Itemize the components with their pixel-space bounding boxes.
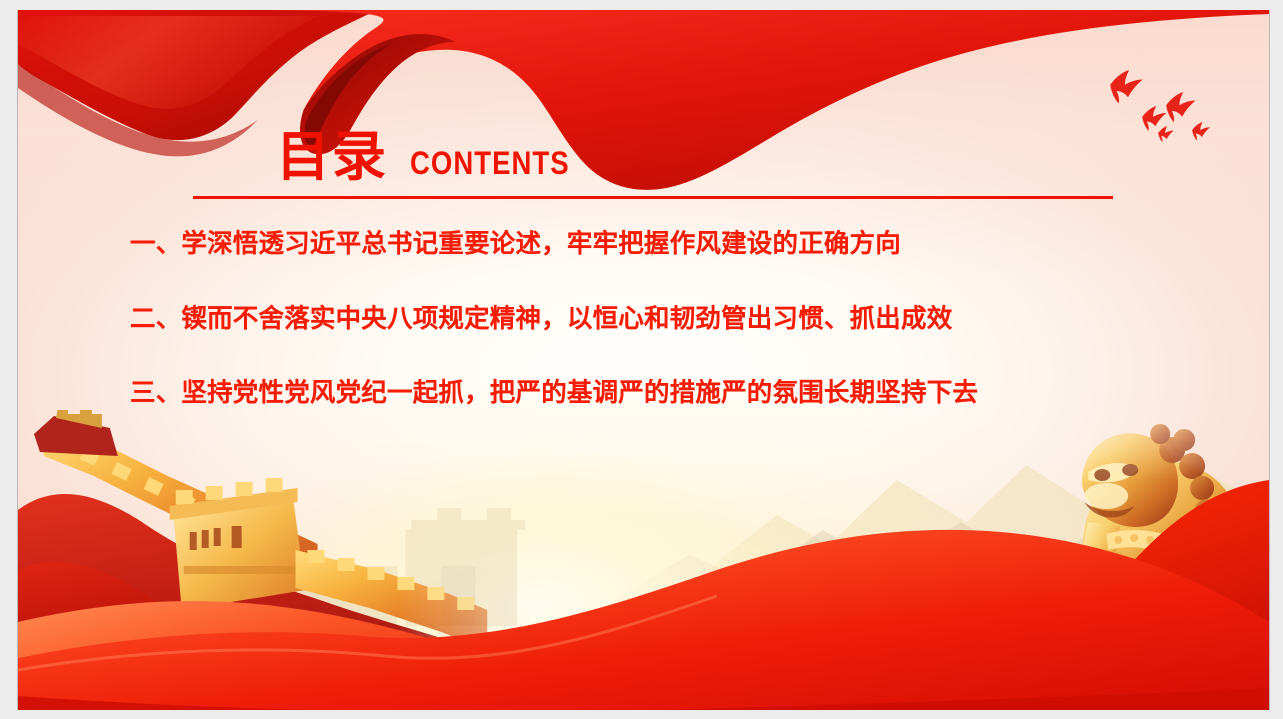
background-golden-haze xyxy=(18,388,1269,710)
title-row: 目录 CONTENTS xyxy=(176,112,1116,184)
page-title: 目录 xyxy=(276,130,388,184)
title-underline xyxy=(193,196,1113,199)
slide-viewport: 目录 CONTENTS 一、学深悟透习近平总书记重要论述，牢牢把握作风建设的正确… xyxy=(0,0,1283,719)
presentation-slide: 目录 CONTENTS 一、学深悟透习近平总书记重要论述，牢牢把握作风建设的正确… xyxy=(17,10,1270,710)
toc-item-2[interactable]: 二、锲而不舍落实中央八项规定精神，以恒心和韧劲管出习惯、抓出成效 xyxy=(130,307,1200,333)
table-of-contents: 一、学深悟透习近平总书记重要论述，牢牢把握作风建设的正确方向 二、锲而不舍落实中… xyxy=(130,232,1200,407)
page-subtitle: CONTENTS xyxy=(410,147,570,184)
slide-header: 目录 CONTENTS xyxy=(176,112,1116,199)
toc-item-3[interactable]: 三、坚持党性党风党纪一起抓，把严的基调严的措施严的氛围长期坚持下去 xyxy=(130,381,1200,407)
toc-item-1[interactable]: 一、学深悟透习近平总书记重要论述，牢牢把握作风建设的正确方向 xyxy=(130,232,1200,258)
